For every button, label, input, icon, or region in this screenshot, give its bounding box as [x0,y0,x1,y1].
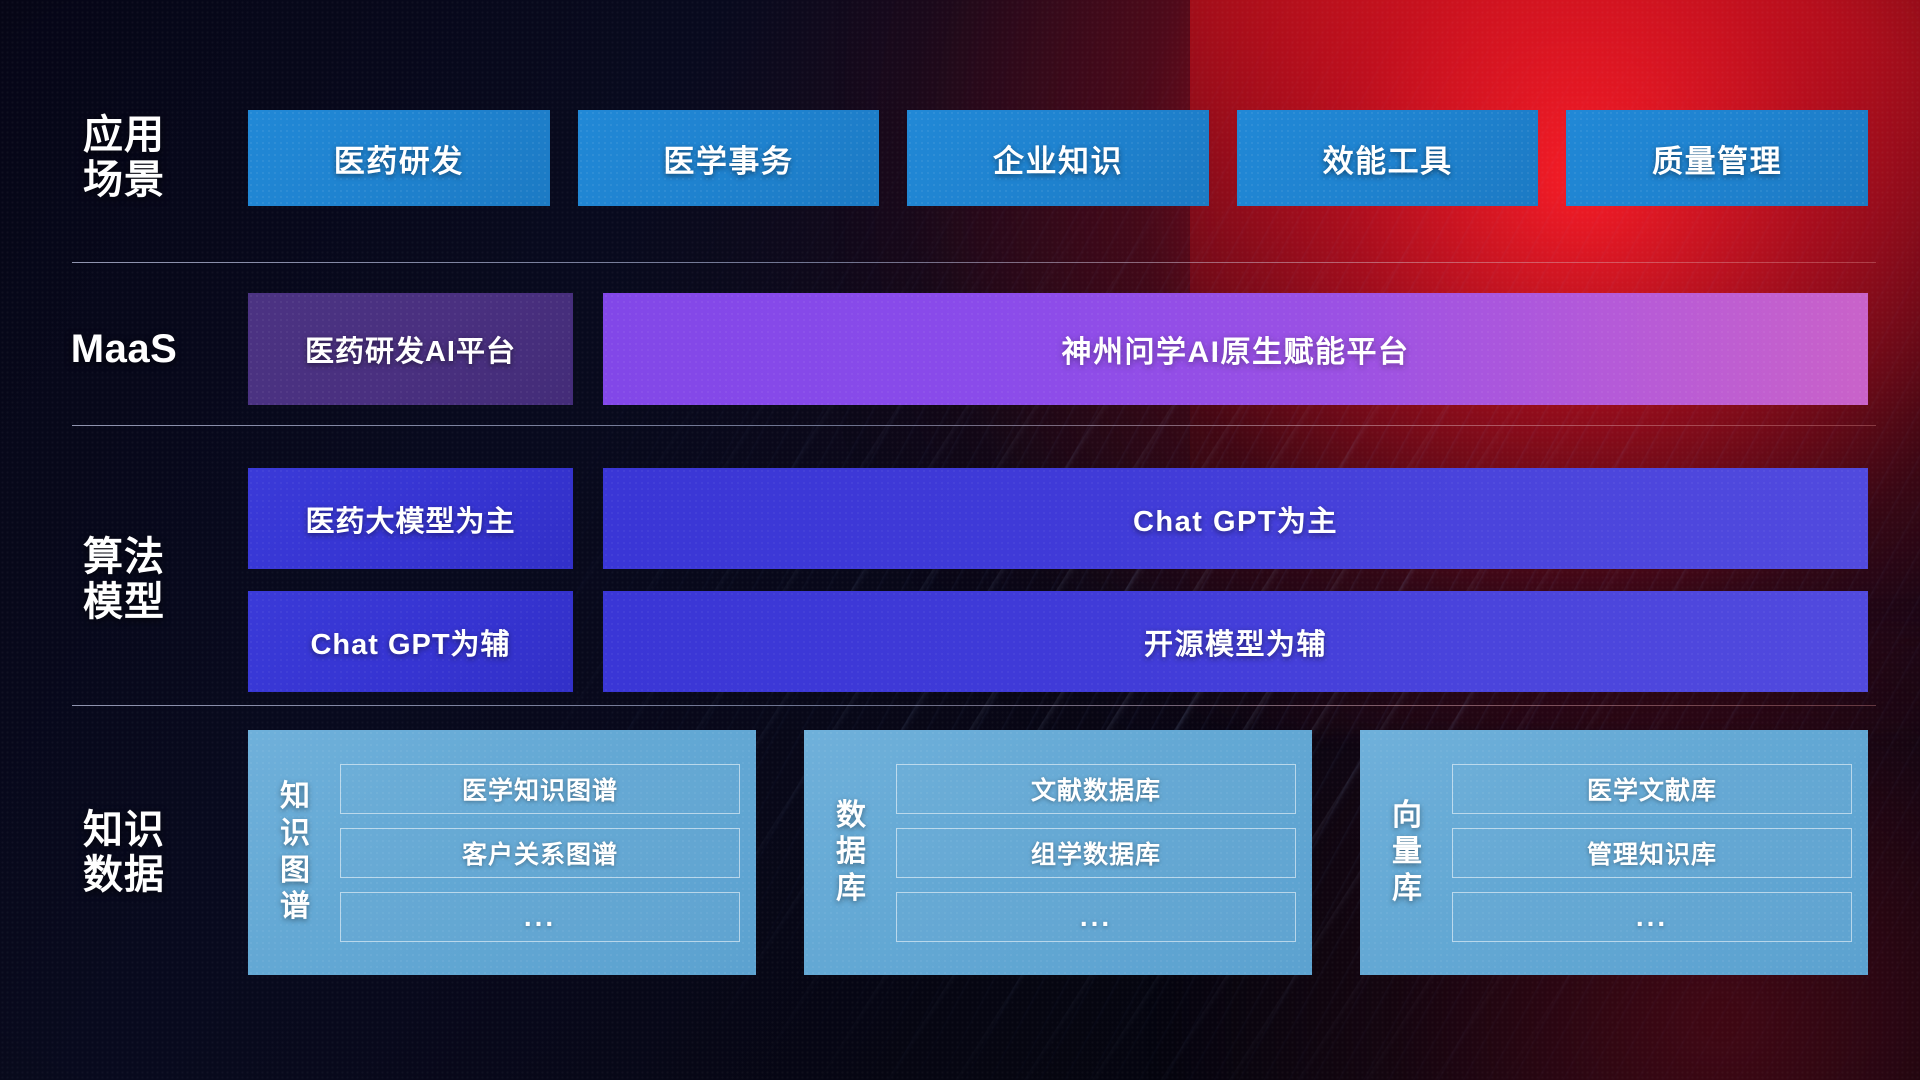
knowledge-panel-title-vector-store: 向 量 库 [1378,746,1436,959]
knowledge-panel-list: 知 识 图 谱 医学知识图谱 客户关系图谱 ... 数 据 [248,730,1868,975]
knowledge-item-customer-relation-graph[interactable]: 客户关系图谱 [340,828,740,878]
row-body-algorithm: 医药大模型为主 Chat GPT为主 Chat GPT为辅 开源模型为辅 [248,468,1920,692]
row-application-scenarios: 应用 场景 医药研发 医学事务 企业知识 效能工具 质量管理 [0,110,1920,206]
knowledge-item-medical-knowledge-graph[interactable]: 医学知识图谱 [340,764,740,814]
title-char: 据 [836,834,866,871]
algo-card-opensource-secondary[interactable]: 开源模型为辅 [603,591,1868,692]
row-label-application-scenarios: 应用 场景 [0,113,248,203]
application-card-list: 医药研发 医学事务 企业知识 效能工具 质量管理 [248,110,1868,206]
row-body-knowledge: 知 识 图 谱 医学知识图谱 客户关系图谱 ... 数 据 [248,730,1920,975]
knowledge-item-list-vector-store: 医学文献库 管理知识库 ... [1452,746,1852,959]
algo-card-chatgpt-primary[interactable]: Chat GPT为主 [603,468,1868,569]
knowledge-item-literature-database[interactable]: 文献数据库 [896,764,1296,814]
row-algorithm-models: 算法 模型 医药大模型为主 Chat GPT为主 Chat GPT为辅 开源模型… [0,460,1920,700]
title-char: 库 [1392,871,1422,908]
row-label-line-2: 模型 [0,580,248,625]
title-char: 向 [1392,798,1422,835]
row-knowledge-data: 知识 数据 知 识 图 谱 医学知识图谱 客户关系图谱 ... [0,730,1920,975]
knowledge-item-management-knowledge-store[interactable]: 管理知识库 [1452,828,1852,878]
title-char: 知 [280,779,310,816]
row-label-line-1: 应用 [0,113,248,158]
algo-card-chatgpt-secondary[interactable]: Chat GPT为辅 [248,591,573,692]
app-card-enterprise-knowledge[interactable]: 企业知识 [907,110,1209,206]
knowledge-panel-title-database: 数 据 库 [822,746,880,959]
algo-card-pharma-llm-primary[interactable]: 医药大模型为主 [248,468,573,569]
knowledge-panel-vector-store[interactable]: 向 量 库 医学文献库 管理知识库 ... [1360,730,1868,975]
architecture-diagram: 应用 场景 医药研发 医学事务 企业知识 效能工具 质量管理 MaaS 医药研发… [0,0,1920,1080]
title-char: 库 [836,871,866,908]
title-char: 识 [280,816,310,853]
app-card-efficiency-tools[interactable]: 效能工具 [1237,110,1539,206]
knowledge-item-list-knowledge-graph: 医学知识图谱 客户关系图谱 ... [340,746,740,959]
knowledge-item-medical-literature-store[interactable]: 医学文献库 [1452,764,1852,814]
row-label-maas: MaaS [0,327,248,372]
row-label-line-1: 算法 [0,535,248,580]
divider-algorithm-knowledge [72,705,1876,706]
title-char: 图 [280,853,310,890]
row-label-algorithm-models: 算法 模型 [0,535,248,625]
row-body-applications: 医药研发 医学事务 企业知识 效能工具 质量管理 [248,110,1920,206]
row-label-line-1: 知识 [0,808,248,853]
row-body-maas: 医药研发AI平台 神州问学AI原生赋能平台 [248,293,1920,405]
maas-card-list: 医药研发AI平台 神州问学AI原生赋能平台 [248,293,1868,405]
app-card-pharma-rd[interactable]: 医药研发 [248,110,550,206]
title-char: 数 [836,798,866,835]
app-card-quality-management[interactable]: 质量管理 [1566,110,1868,206]
knowledge-panel-knowledge-graph[interactable]: 知 识 图 谱 医学知识图谱 客户关系图谱 ... [248,730,756,975]
app-card-medical-affairs[interactable]: 医学事务 [578,110,880,206]
algorithm-card-stack: 医药大模型为主 Chat GPT为主 Chat GPT为辅 开源模型为辅 [248,468,1868,692]
knowledge-item-more-vector-store[interactable]: ... [1452,892,1852,942]
maas-card-pharma-ai-platform[interactable]: 医药研发AI平台 [248,293,573,405]
knowledge-item-more-database[interactable]: ... [896,892,1296,942]
knowledge-panel-title-knowledge-graph: 知 识 图 谱 [266,746,324,959]
knowledge-item-list-database: 文献数据库 组学数据库 ... [896,746,1296,959]
maas-card-shenzhou-wenxue-platform[interactable]: 神州问学AI原生赋能平台 [603,293,1868,405]
row-label-knowledge-data: 知识 数据 [0,808,248,898]
row-label-line-2: 数据 [0,853,248,898]
divider-applications-maas [72,262,1876,263]
algorithm-row-secondary: Chat GPT为辅 开源模型为辅 [248,591,1868,692]
knowledge-item-omics-database[interactable]: 组学数据库 [896,828,1296,878]
title-char: 谱 [280,889,310,926]
row-maas: MaaS 医药研发AI平台 神州问学AI原生赋能平台 [0,293,1920,405]
knowledge-panel-database[interactable]: 数 据 库 文献数据库 组学数据库 ... [804,730,1312,975]
divider-maas-algorithm [72,425,1876,426]
row-label-line-2: 场景 [0,158,248,203]
algorithm-row-primary: 医药大模型为主 Chat GPT为主 [248,468,1868,569]
knowledge-item-more-knowledge-graph[interactable]: ... [340,892,740,942]
title-char: 量 [1392,834,1422,871]
